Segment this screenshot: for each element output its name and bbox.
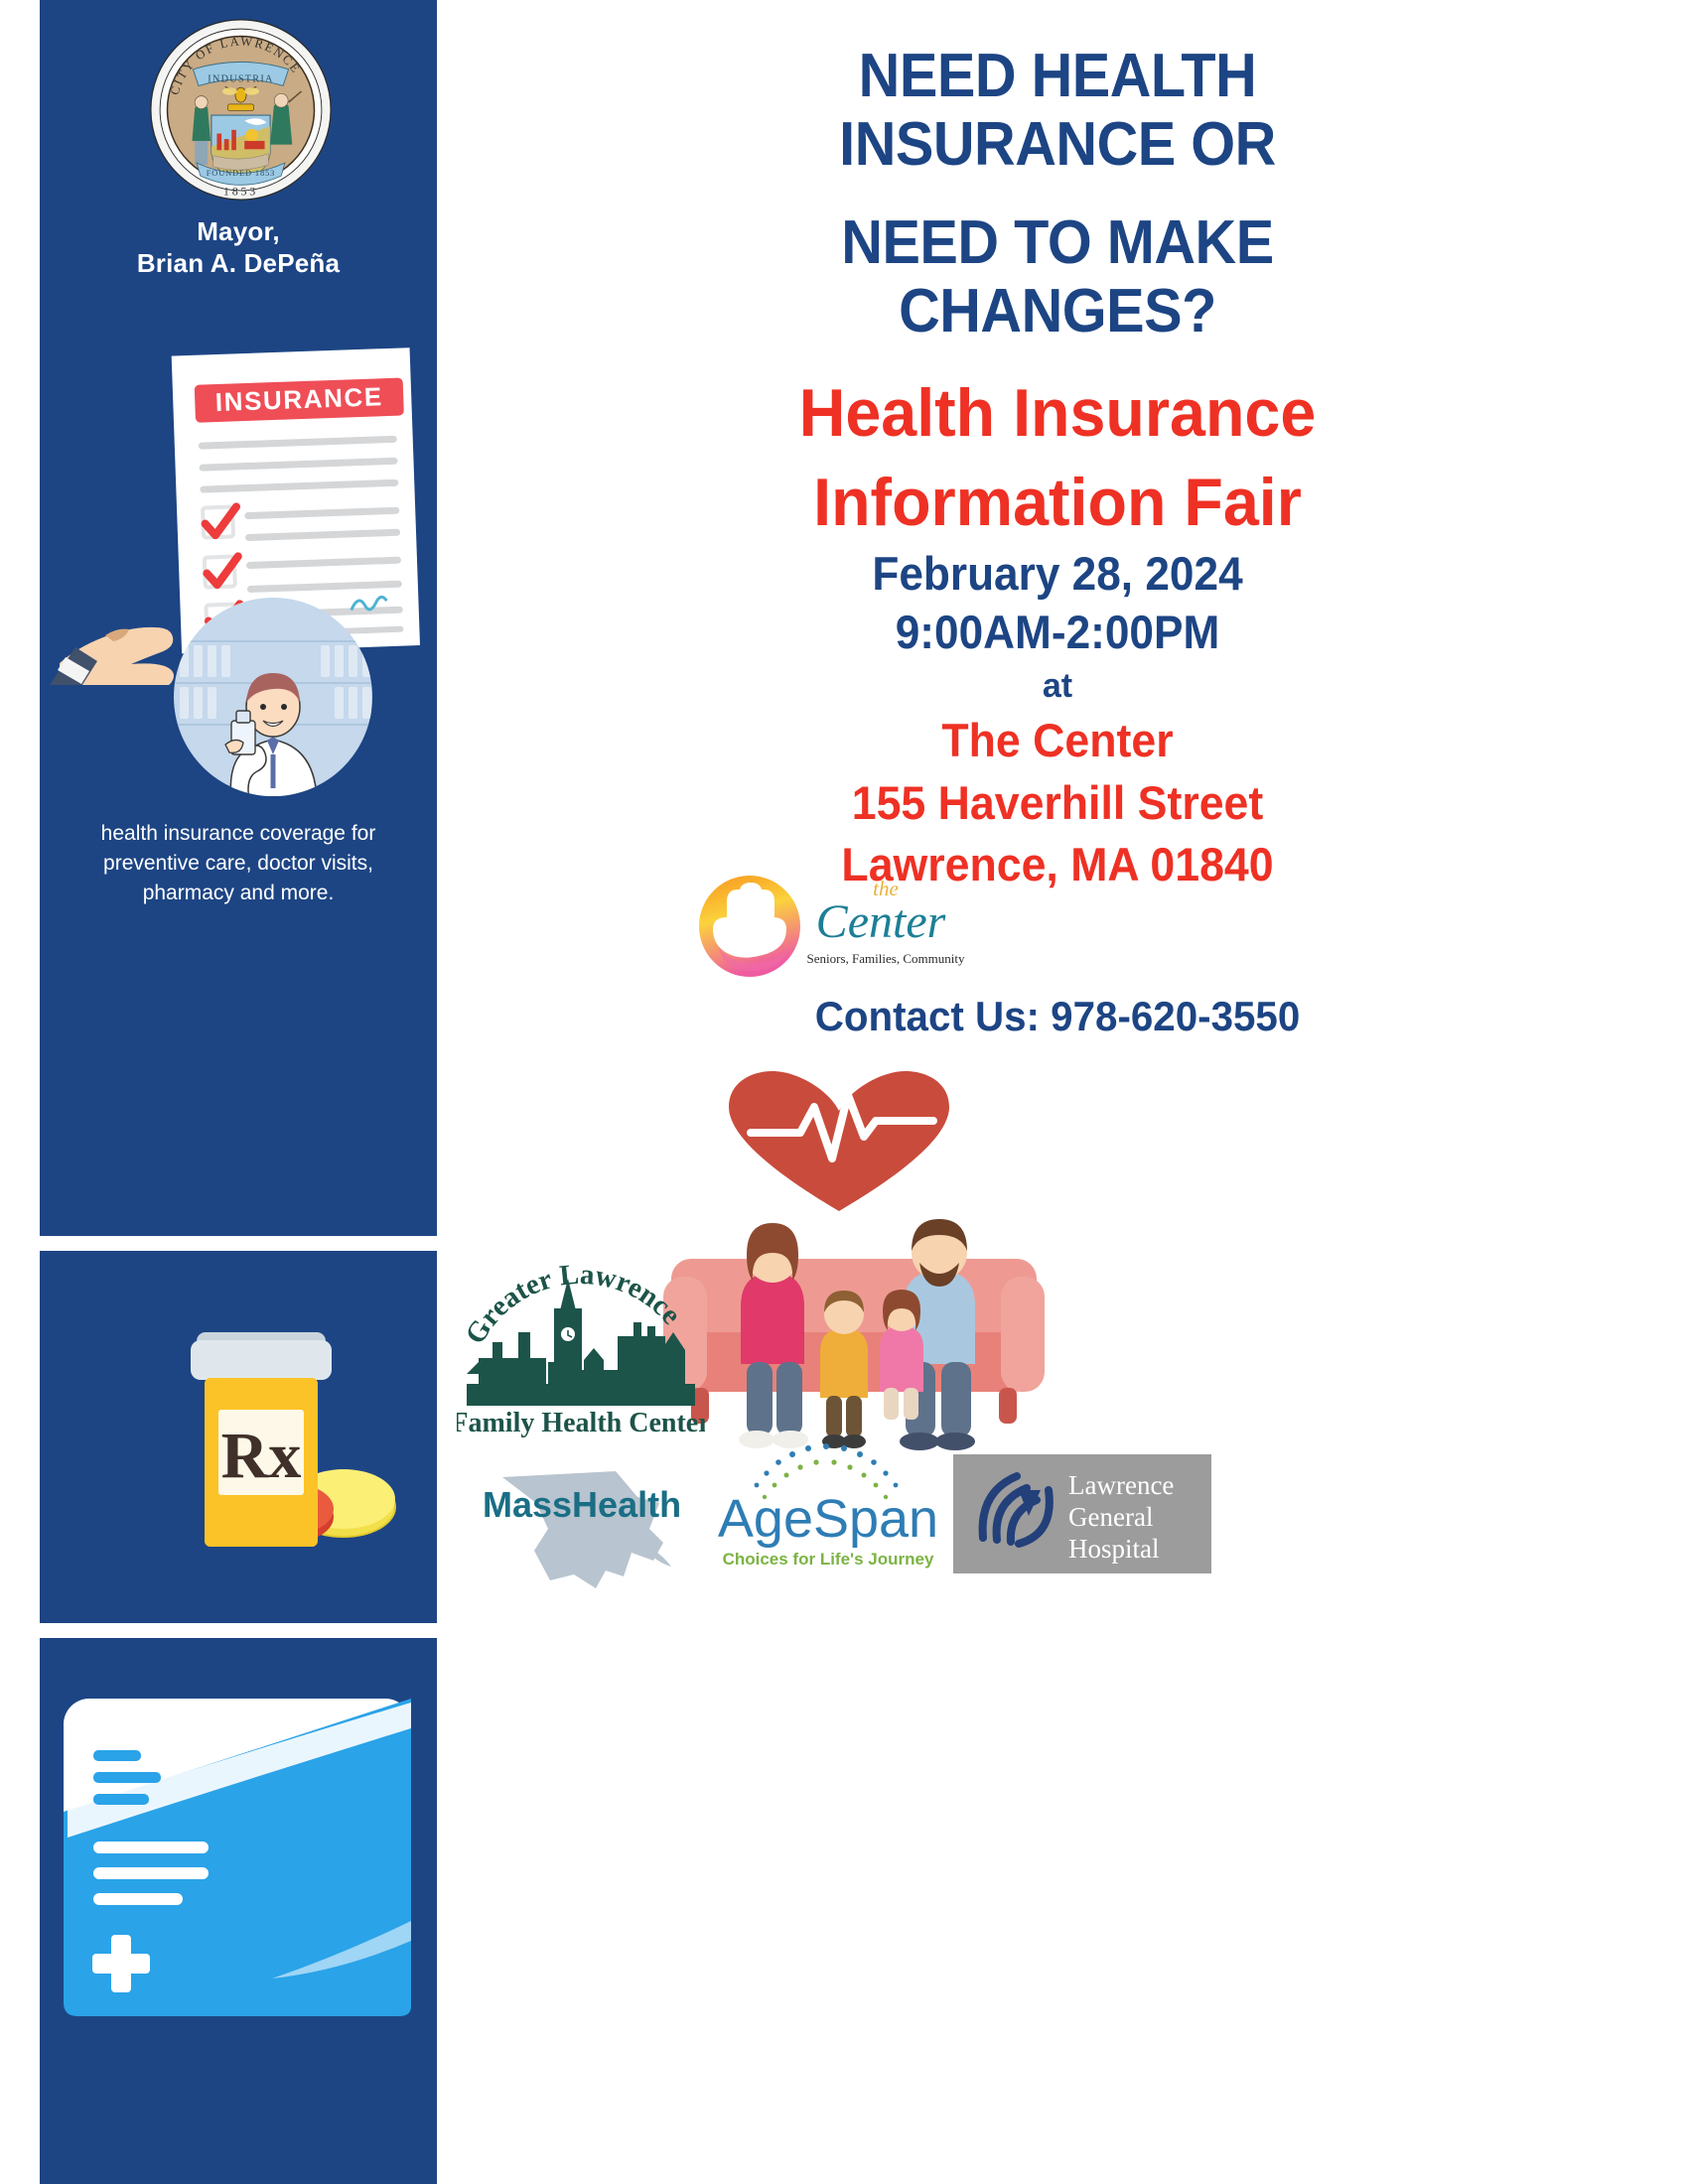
center-logo-tagline: Seniors, Families, Community (807, 951, 965, 966)
hand-icon (50, 627, 174, 685)
masshealth-logo: MassHealth (467, 1459, 695, 1588)
headline-line-4: CHANGES? (508, 277, 1608, 345)
family-on-couch-illustration (655, 1181, 1053, 1469)
headline-line-2: INSURANCE OR (508, 110, 1608, 179)
insurance-banner-text: INSURANCE (214, 381, 383, 417)
event-title-line-2: Information Fair (496, 459, 1619, 548)
rx-bottle-illustration: Rx (149, 1300, 437, 1559)
left-illustration-column: CITY OF LAWRENCE INDUSTRIA (40, 0, 437, 2184)
event-datetime: February 28, 2024 9:00AM-2:00PM (502, 544, 1614, 661)
event-venue: The Center 155 Haverhill Street Lawrence… (496, 710, 1619, 896)
event-date: February 28, 2024 (502, 544, 1614, 603)
headline-part-1: NEED HEALTH INSURANCE OR (508, 42, 1608, 180)
event-title: Health Insurance Information Fair (496, 369, 1619, 548)
flyer-page: CITY OF LAWRENCE INDUSTRIA (0, 0, 1688, 2184)
rx-label: Rx (221, 1420, 302, 1492)
coverage-line-1: health insurance coverage for (60, 819, 417, 849)
lgh-line-3: Hospital (1068, 1534, 1160, 1564)
sidebar-panel-card (40, 1638, 437, 2184)
svg-text:INDUSTRIA: INDUSTRIA (208, 74, 273, 85)
mayor-label: Mayor, (40, 216, 437, 248)
center-logo-center: Center (816, 895, 946, 948)
coverage-line-3: pharmacy and more. (60, 879, 417, 908)
event-title-line-1: Health Insurance (496, 369, 1619, 459)
mayor-credit: Mayor, Brian A. DePeña (40, 216, 437, 280)
agespan-name: AgeSpan (718, 1489, 938, 1549)
coverage-line-2: preventive care, doctor visits, (60, 849, 417, 879)
lgh-line-1: Lawrence (1068, 1470, 1174, 1500)
city-of-lawrence-seal-icon: CITY OF LAWRENCE INDUSTRIA (149, 18, 333, 202)
venue-name: The Center (496, 710, 1619, 772)
at-word: at (467, 667, 1648, 706)
contact-line: Contact Us: 978-620-3550 (491, 993, 1624, 1040)
lgh-line-2: General (1068, 1502, 1153, 1532)
agespan-tagline: Choices for Life's Journey (723, 1550, 934, 1569)
greater-lawrence-family-health-center-logo: Greater Lawrence (457, 1251, 705, 1439)
the-center-logo: the Center Seniors, Families, Community (697, 872, 985, 981)
venue-city: Lawrence, MA 01840 (496, 834, 1619, 896)
main-content-column: NEED HEALTH INSURANCE OR NEED TO MAKE CH… (467, 0, 1688, 2184)
glfhc-bottom-text: Family Health Center (457, 1408, 705, 1438)
agespan-logo: AgeSpan Choices for Life's Journey (705, 1430, 953, 1588)
event-time: 9:00AM-2:00PM (502, 603, 1614, 661)
headline-part-2: NEED TO MAKE CHANGES? (508, 208, 1608, 346)
svg-text:1853: 1853 (223, 185, 258, 199)
sidebar-panel-pharmacy: Rx (40, 1251, 437, 1623)
headline-line-3: NEED TO MAKE (508, 208, 1608, 277)
coverage-caption: health insurance coverage for preventive… (60, 819, 417, 907)
mayor-name: Brian A. DePeña (40, 248, 437, 280)
svg-text:FOUNDED 1853: FOUNDED 1853 (207, 169, 276, 178)
venue-street: 155 Haverhill Street (496, 772, 1619, 835)
sidebar-panel-top: CITY OF LAWRENCE INDUSTRIA (40, 0, 437, 1236)
insurance-card-illustration (58, 1693, 420, 2030)
lawrence-general-hospital-logo: Lawrence General Hospital (953, 1454, 1211, 1573)
pharmacist-illustration (172, 596, 375, 799)
headline-line-1: NEED HEALTH (508, 42, 1608, 110)
masshealth-text: MassHealth (483, 1484, 681, 1525)
